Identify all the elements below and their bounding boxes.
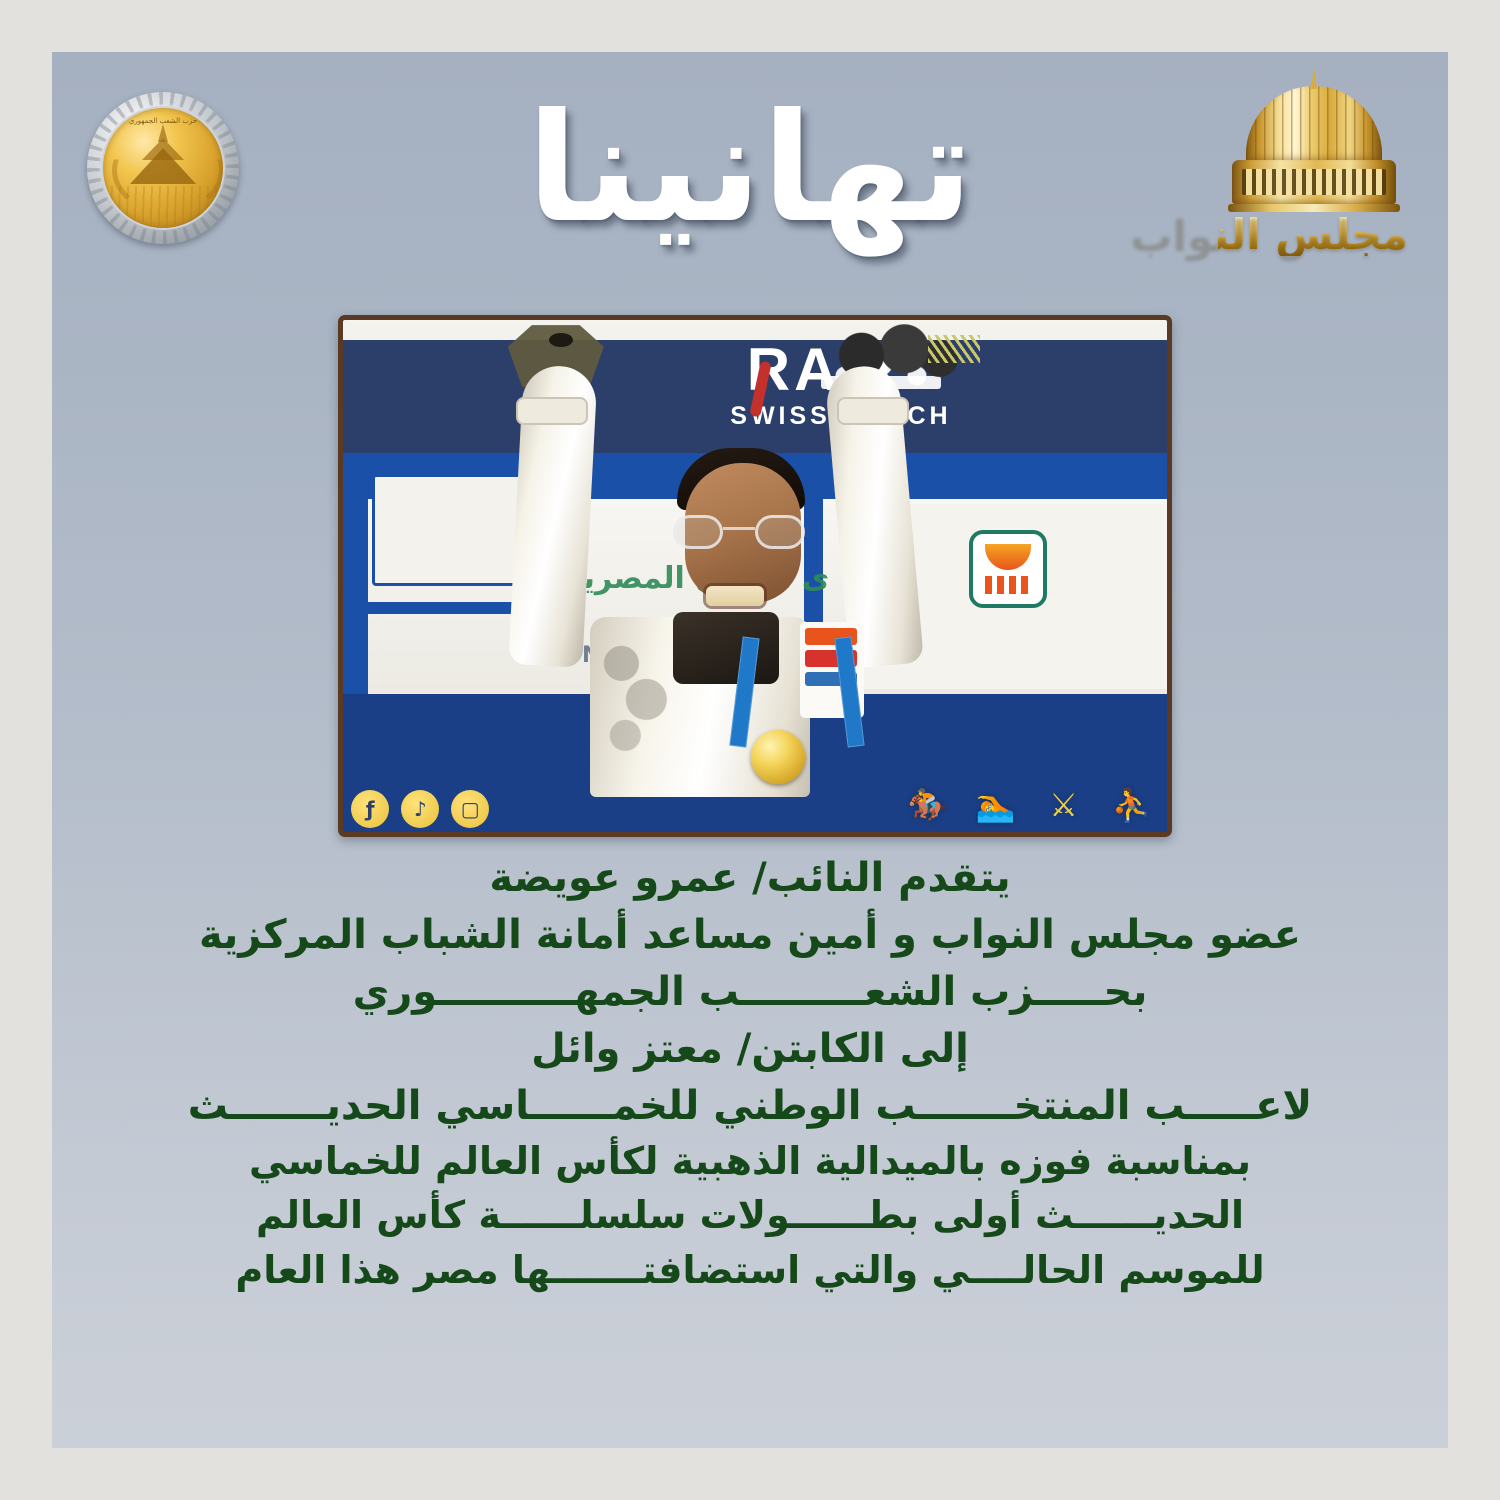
- poster-header: حزب الشعب الجمهوري تهانينا: [52, 52, 1448, 292]
- riding-icon: 🏇: [905, 784, 951, 826]
- fencing-icon: ⚔: [1041, 784, 1087, 826]
- message-line-1: يتقدم النائب/ عمرو عويضة: [52, 852, 1448, 904]
- dome-shape-icon: [1246, 86, 1382, 162]
- parliament-logo-caption: مجلس النواب: [1218, 214, 1408, 256]
- jacket-pattern: [598, 637, 676, 757]
- backdrop-sport-pictograms: ⛹ ⚔ 🏊 🏇: [905, 784, 1155, 826]
- parliament-dome-logo-icon: مجلس النواب: [1218, 80, 1408, 270]
- message-line-8: للموسم الحالــــي والتي استضافتـــــــها…: [52, 1246, 1448, 1295]
- poster-page: حزب الشعب الجمهوري تهانينا: [0, 0, 1500, 1500]
- athlete-celebration-photo: RAM SWISS WATCH ى الاهلى المصرية NK: [338, 315, 1172, 837]
- dome-ribs: [1246, 86, 1382, 162]
- congratulation-message: يتقدم النائب/ عمرو عويضة عضو مجلس النواب…: [52, 852, 1448, 1300]
- medal-ribbon: [722, 637, 872, 747]
- gold-medal-icon: [751, 730, 805, 784]
- message-line-3: بحـــــزب الشعـــــــــب الجمهــــــــــ…: [52, 966, 1448, 1018]
- message-line-2: عضو مجلس النواب و أمين مساعد أمانة الشبا…: [52, 909, 1448, 961]
- photo-backdrop-left-blue: [343, 453, 368, 694]
- bouquet-leaves-icon: [928, 335, 980, 363]
- message-line-4: إلى الكابتن/ معتز وائل: [52, 1023, 1448, 1075]
- message-line-7: الحديــــــث أولى بطــــــولات سلسلـــــ…: [52, 1191, 1448, 1240]
- running-icon: ⛹: [1109, 784, 1155, 826]
- trophy-top-detail: [549, 333, 573, 347]
- athlete-smile: [706, 586, 764, 606]
- message-line-6: بمناسبة فوزه بالميدالية الذهبية لكأس الع…: [52, 1137, 1448, 1186]
- backdrop-sponsor-logo-icon: [969, 530, 1047, 608]
- swimming-icon: 🏊: [973, 784, 1019, 826]
- facebook-icon: ƒ: [351, 790, 389, 828]
- dome-colonnade: [1232, 160, 1396, 204]
- instagram-icon: ▢: [451, 790, 489, 828]
- athlete-glasses-icon: [673, 515, 805, 549]
- dome-columns: [1242, 169, 1386, 195]
- tiktok-icon: ♪: [401, 790, 439, 828]
- athlete-left-cuff: [516, 397, 588, 425]
- message-line-5: لاعـــــب المنتخـــــــب الوطني للخمــــ…: [52, 1080, 1448, 1132]
- athlete-right-cuff: [837, 397, 909, 425]
- backdrop-social-icons: ▢ ♪ ƒ: [351, 790, 489, 828]
- poster-canvas: حزب الشعب الجمهوري تهانينا: [52, 52, 1448, 1448]
